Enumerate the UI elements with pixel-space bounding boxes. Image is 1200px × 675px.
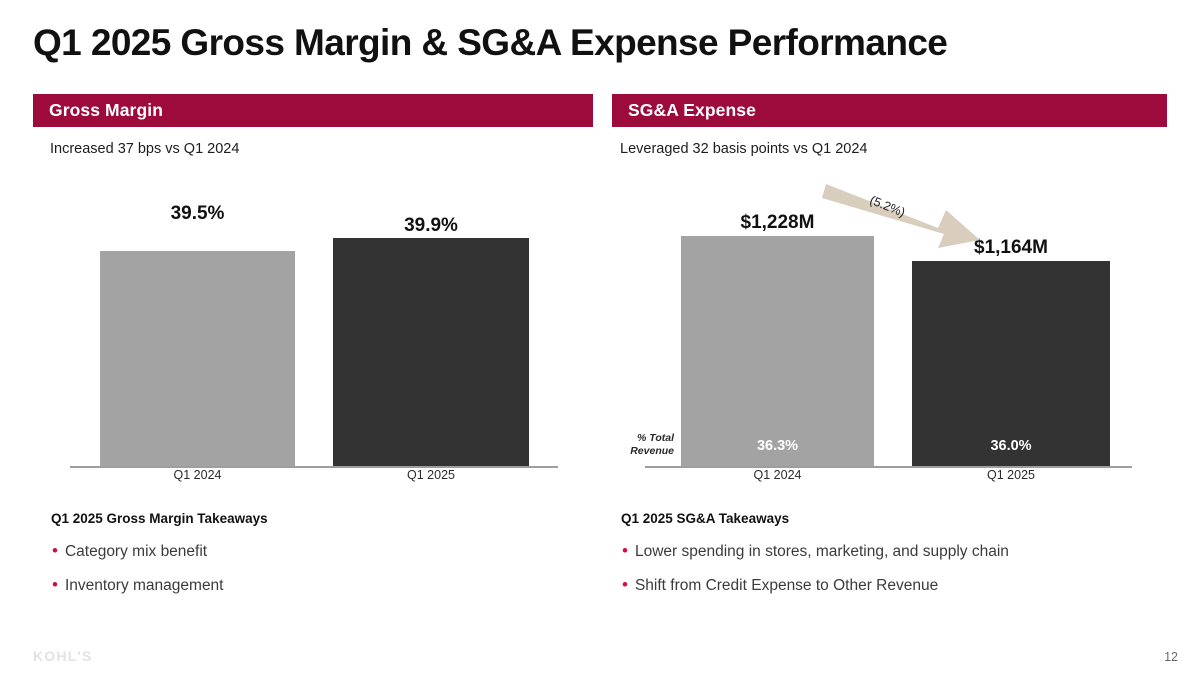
list-item: • Lower spending in stores, marketing, a… [622,542,1009,561]
sga-expense-subtitle: Leveraged 32 basis points vs Q1 2024 [620,141,867,157]
list-item: • Category mix benefit [52,542,207,561]
category-label-sga-q1-2025: Q1 2025 [912,468,1110,482]
category-label-gross-margin-q1-2024: Q1 2024 [100,468,295,482]
list-item-label: Lower spending in stores, marketing, and… [635,543,1009,561]
gross-margin-takeaways-title: Q1 2025 Gross Margin Takeaways [51,511,268,526]
category-label-sga-q1-2024: Q1 2024 [681,468,874,482]
bar-value-gross-margin-q1-2025: 39.9% [333,215,529,237]
kohls-logo: KOHL'S [33,648,93,664]
list-item-label: Inventory management [65,577,224,595]
page-number: 12 [1164,650,1178,664]
section-header-label: SG&A Expense [612,100,756,121]
bullet-dot-icon: • [622,542,628,559]
list-item: • Inventory management [52,576,224,595]
axis-caption-line-1: % Total [612,432,674,445]
bar-value-gross-margin-q1-2024: 39.5% [100,203,295,225]
section-header-label: Gross Margin [33,100,163,121]
bar-inner-value-sga-q1-2025: 36.0% [912,438,1110,454]
bar-gross-margin-q1-2025 [333,238,529,466]
bar-sga-q1-2024 [681,236,874,466]
section-header-gross-margin: Gross Margin [33,94,593,127]
list-item-label: Category mix benefit [65,543,207,561]
axis-caption-line-2: Revenue [612,445,674,458]
category-label-gross-margin-q1-2025: Q1 2025 [333,468,529,482]
slide-root: Q1 2025 Gross Margin & SG&A Expense Perf… [0,0,1200,675]
bar-inner-value-sga-q1-2024: 36.3% [681,438,874,454]
gross-margin-subtitle: Increased 37 bps vs Q1 2024 [50,141,239,157]
section-header-sga-expense: SG&A Expense [612,94,1167,127]
page-title: Q1 2025 Gross Margin & SG&A Expense Perf… [33,22,947,64]
bullet-dot-icon: • [52,576,58,593]
sga-takeaways-title: Q1 2025 SG&A Takeaways [621,511,789,526]
bar-gross-margin-q1-2024 [100,251,295,466]
bar-sga-q1-2025 [912,261,1110,466]
list-item: • Shift from Credit Expense to Other Rev… [622,576,938,595]
axis-caption-percent-total-revenue: % Total Revenue [612,432,674,457]
bullet-dot-icon: • [52,542,58,559]
list-item-label: Shift from Credit Expense to Other Reven… [635,577,938,595]
bullet-dot-icon: • [622,576,628,593]
decline-arrow-icon [818,178,988,258]
